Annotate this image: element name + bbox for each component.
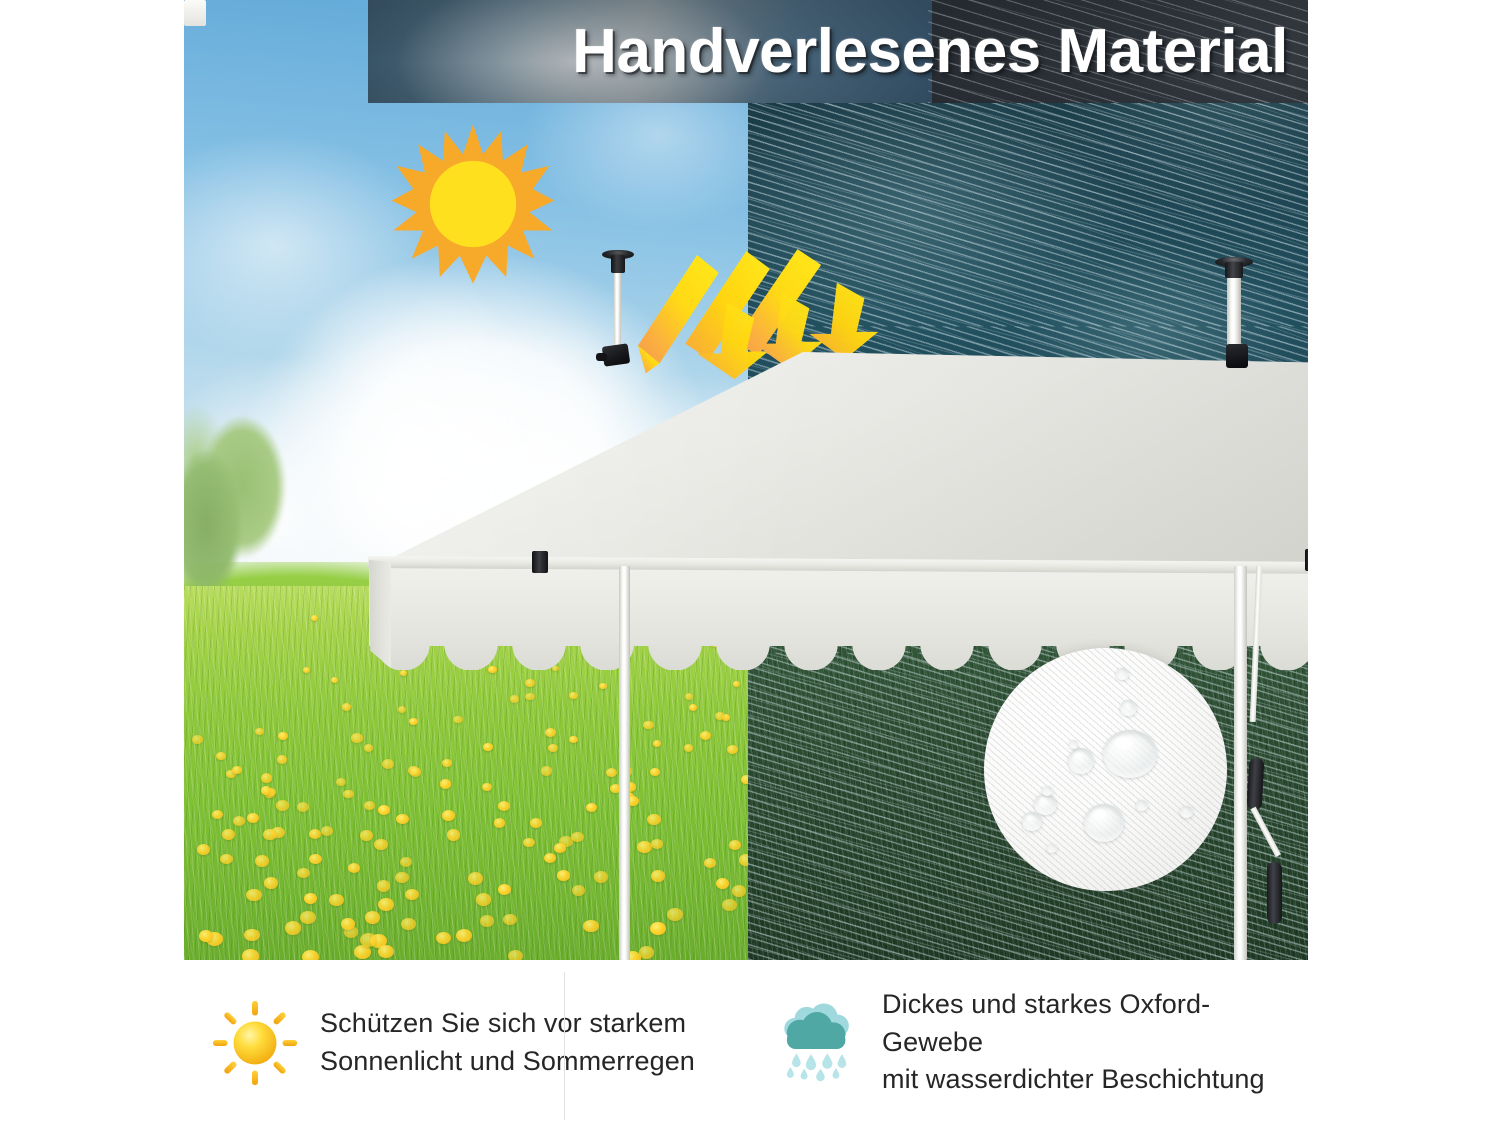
- dandelion-flower: [569, 692, 578, 700]
- dandelion-flower: [468, 872, 483, 885]
- distant-building: [1062, 538, 1275, 586]
- water-droplet: [1047, 844, 1057, 853]
- dandelion-flower: [525, 693, 534, 701]
- tree-icon: [184, 394, 297, 605]
- dandelion-flower: [400, 670, 407, 676]
- dandelion-flower: [591, 627, 599, 634]
- dandelion-flower: [541, 766, 552, 775]
- dandelion-flower: [626, 796, 639, 806]
- dandelion-flower: [548, 744, 558, 752]
- dandelion-flower: [483, 743, 493, 751]
- sun-icon: [390, 121, 556, 287]
- dandelion-flower: [442, 810, 455, 821]
- dandelion-flower: [716, 878, 729, 889]
- dandelion-flower: [650, 768, 660, 776]
- dandelion-flower: [336, 778, 346, 786]
- dandelion-flower: [571, 832, 583, 842]
- dandelion-flower: [643, 721, 654, 730]
- title-banner: Handverlesenes Material: [368, 0, 1308, 103]
- water-droplet: [1068, 748, 1094, 774]
- dandelion-flower: [651, 839, 663, 849]
- dandelion-flower: [360, 933, 377, 947]
- feature-item-sun-protection: Schützen Sie sich vor starkem Sonnenlich…: [184, 960, 746, 1125]
- dandelion-flower: [552, 666, 559, 672]
- dandelion-flower: [727, 745, 738, 754]
- dandelion-flower: [498, 801, 510, 811]
- dandelion-flower: [653, 740, 662, 747]
- dandelion-flower: [476, 893, 491, 905]
- dandelion-flower: [722, 899, 737, 911]
- water-droplet: [1069, 740, 1078, 749]
- dandelion-flower: [447, 829, 461, 840]
- dandelion-flower: [302, 950, 319, 960]
- dandelion-flower: [544, 853, 557, 863]
- dandelion-flower: [637, 841, 651, 853]
- dandelion-flower: [297, 802, 309, 812]
- dandelion-flower: [610, 784, 621, 793]
- dandelion-flower: [197, 844, 210, 855]
- dandelion-flower: [684, 744, 693, 751]
- dandelion-flower: [343, 790, 353, 798]
- dandelion-flower: [192, 735, 203, 744]
- dandelion-flower: [255, 855, 269, 867]
- dandelion-flower: [405, 889, 418, 900]
- dandelion-flower: [410, 767, 421, 776]
- dandelion-flowers: [184, 576, 748, 960]
- dandelion-flower: [704, 858, 716, 868]
- feature-divider: [564, 972, 565, 1120]
- sun-rays-icon: [636, 248, 892, 398]
- dandelion-flower: [396, 814, 408, 824]
- dandelion-flower: [525, 679, 535, 687]
- feature-text: Dickes und starkes Oxford-Gewebe mit was…: [882, 986, 1302, 1099]
- dandelion-flower: [321, 826, 333, 836]
- dandelion-flower: [220, 854, 233, 864]
- dandelion-flower: [442, 759, 452, 767]
- dandelion-flower: [630, 603, 638, 609]
- dandelion-flower: [650, 922, 666, 935]
- dandelion-flower: [733, 681, 740, 687]
- dandelion-flower: [244, 929, 259, 942]
- feature-line-1: Dickes und starkes Oxford-Gewebe: [882, 989, 1210, 1057]
- dandelion-flower: [418, 651, 427, 658]
- water-droplet: [1103, 730, 1157, 778]
- split-scene-photo-collage: Handverlesenes Material: [184, 0, 1308, 960]
- dandelion-flower: [378, 945, 394, 958]
- dandelion-flower: [304, 893, 317, 904]
- dandelion-flower: [510, 695, 519, 703]
- product-feature-image: Handverlesenes Material: [0, 0, 1500, 1125]
- dandelion-flower: [277, 755, 288, 764]
- dandelion-flower: [263, 829, 276, 840]
- water-droplet: [1084, 804, 1124, 842]
- water-droplet: [1022, 812, 1042, 831]
- feature-line-2: mit wasserdichter Beschichtung: [882, 1061, 1302, 1099]
- dandelion-flower: [342, 703, 351, 711]
- dandelion-flower: [378, 898, 394, 911]
- dandelion-flower: [242, 949, 259, 960]
- dandelion-flower: [212, 810, 223, 819]
- dandelion-flower: [401, 918, 416, 930]
- dandelion-flower: [700, 731, 711, 740]
- dandelion-flower: [331, 677, 338, 683]
- dandelion-flower: [523, 838, 535, 847]
- dandelion-flower: [303, 667, 310, 673]
- dandelion-flower: [545, 728, 556, 737]
- dandelion-flower: [222, 829, 236, 840]
- dandelion-flower: [300, 911, 316, 924]
- dandelion-flower: [233, 816, 245, 826]
- dandelion-flower: [264, 877, 278, 889]
- dandelion-flower: [739, 854, 748, 866]
- dandelion-flower: [374, 839, 388, 851]
- dandelion-flower: [278, 732, 288, 740]
- dandelion-flower: [395, 872, 409, 884]
- feature-line-2: Sonnenlicht und Sommerregen: [320, 1043, 695, 1081]
- water-droplet: [1034, 794, 1057, 815]
- feature-line-1: Schützen Sie sich vor starkem: [320, 1008, 686, 1038]
- dandelion-flower: [364, 801, 375, 810]
- dandelion-flower: [261, 773, 272, 782]
- dandelion-flower: [689, 704, 697, 711]
- dandelion-flower: [498, 884, 511, 895]
- dandelion-flower: [440, 779, 452, 788]
- dandelion-flower: [741, 775, 748, 784]
- dandelion-flower: [311, 615, 318, 621]
- water-droplet: [1120, 700, 1137, 716]
- sun-icon: [212, 1000, 298, 1086]
- dandelion-flower: [232, 766, 242, 774]
- dandelion-flower: [377, 880, 391, 891]
- dandelion-flower: [348, 863, 361, 873]
- dandelion-flower: [285, 921, 301, 934]
- dandelion-flower: [579, 634, 586, 640]
- water-droplet: [1116, 668, 1129, 680]
- dandelion-flower: [246, 889, 262, 902]
- water-droplet: [1042, 786, 1053, 796]
- dandelion-flower: [647, 814, 661, 825]
- dandelion-flower: [482, 783, 492, 791]
- dandelion-flower: [715, 712, 725, 720]
- dandelion-flower: [508, 950, 523, 960]
- fabric-weave-texture: [984, 648, 1227, 891]
- dandelion-flower: [493, 639, 501, 646]
- water-droplet: [1136, 800, 1148, 811]
- feature-text: Schützen Sie sich vor starkem Sonnenlich…: [320, 1005, 695, 1081]
- dandelion-flower: [619, 766, 631, 776]
- dandelion-flower: [276, 800, 289, 811]
- dandelion-flower: [557, 870, 570, 881]
- water-droplet: [1180, 806, 1193, 818]
- dandelion-flower: [351, 733, 362, 742]
- dandelion-flower: [453, 716, 462, 724]
- dandelion-flower: [504, 603, 511, 609]
- page-title: Handverlesenes Material: [368, 0, 1308, 103]
- dandelion-flower: [409, 718, 418, 726]
- dandelion-flower: [400, 857, 412, 867]
- dandelion-flower: [581, 628, 588, 633]
- dandelion-flower: [583, 920, 599, 933]
- dandelion-flower: [624, 782, 636, 792]
- dandelion-flower: [729, 840, 741, 850]
- dandelion-flower: [364, 744, 374, 752]
- dandelion-flower: [651, 870, 666, 882]
- dandelion-flower: [569, 736, 578, 744]
- dandelion-flower: [297, 868, 310, 879]
- dandelion-flower: [667, 908, 683, 921]
- dandelion-flower: [685, 693, 693, 700]
- dandelion-flower: [494, 818, 505, 827]
- dandelion-flower: [255, 728, 264, 736]
- dandelion-flower: [511, 623, 517, 628]
- waterproof-fabric-closeup: [984, 648, 1227, 891]
- dandelion-flower: [216, 752, 226, 760]
- dandelion-flower: [554, 843, 566, 853]
- feature-list: Schützen Sie sich vor starkem Sonnenlich…: [184, 960, 1308, 1125]
- rain-cloud-icon: [774, 1000, 860, 1086]
- dandelion-flower: [503, 914, 517, 926]
- dandelion-flower: [378, 805, 390, 815]
- dandelion-flower: [247, 813, 259, 823]
- dandelion-flower: [488, 666, 496, 673]
- dandelion-flower: [480, 915, 495, 927]
- dandelion-flower: [309, 854, 321, 864]
- feature-item-waterproof-fabric: Dickes und starkes Oxford-Gewebe mit was…: [746, 960, 1308, 1125]
- dandelion-flower: [382, 759, 394, 769]
- dandelion-flower: [594, 871, 608, 883]
- dandelion-flower: [586, 803, 598, 812]
- dandelion-flower: [309, 829, 321, 839]
- dandelion-flower: [572, 885, 585, 896]
- dandelion-flower: [711, 640, 719, 647]
- dandelion-flower: [530, 818, 542, 828]
- dandelion-flower: [436, 932, 451, 944]
- dandelion-flower: [732, 885, 747, 897]
- dandelion-flower: [365, 911, 381, 924]
- dandelion-flower: [639, 946, 654, 959]
- dandelion-flower: [329, 894, 344, 906]
- dandelion-flower: [456, 929, 472, 942]
- dandelion-flower: [606, 768, 617, 777]
- dandelion-flower: [398, 706, 406, 712]
- dandelion-flower: [360, 830, 373, 841]
- dandelion-flower: [599, 683, 607, 689]
